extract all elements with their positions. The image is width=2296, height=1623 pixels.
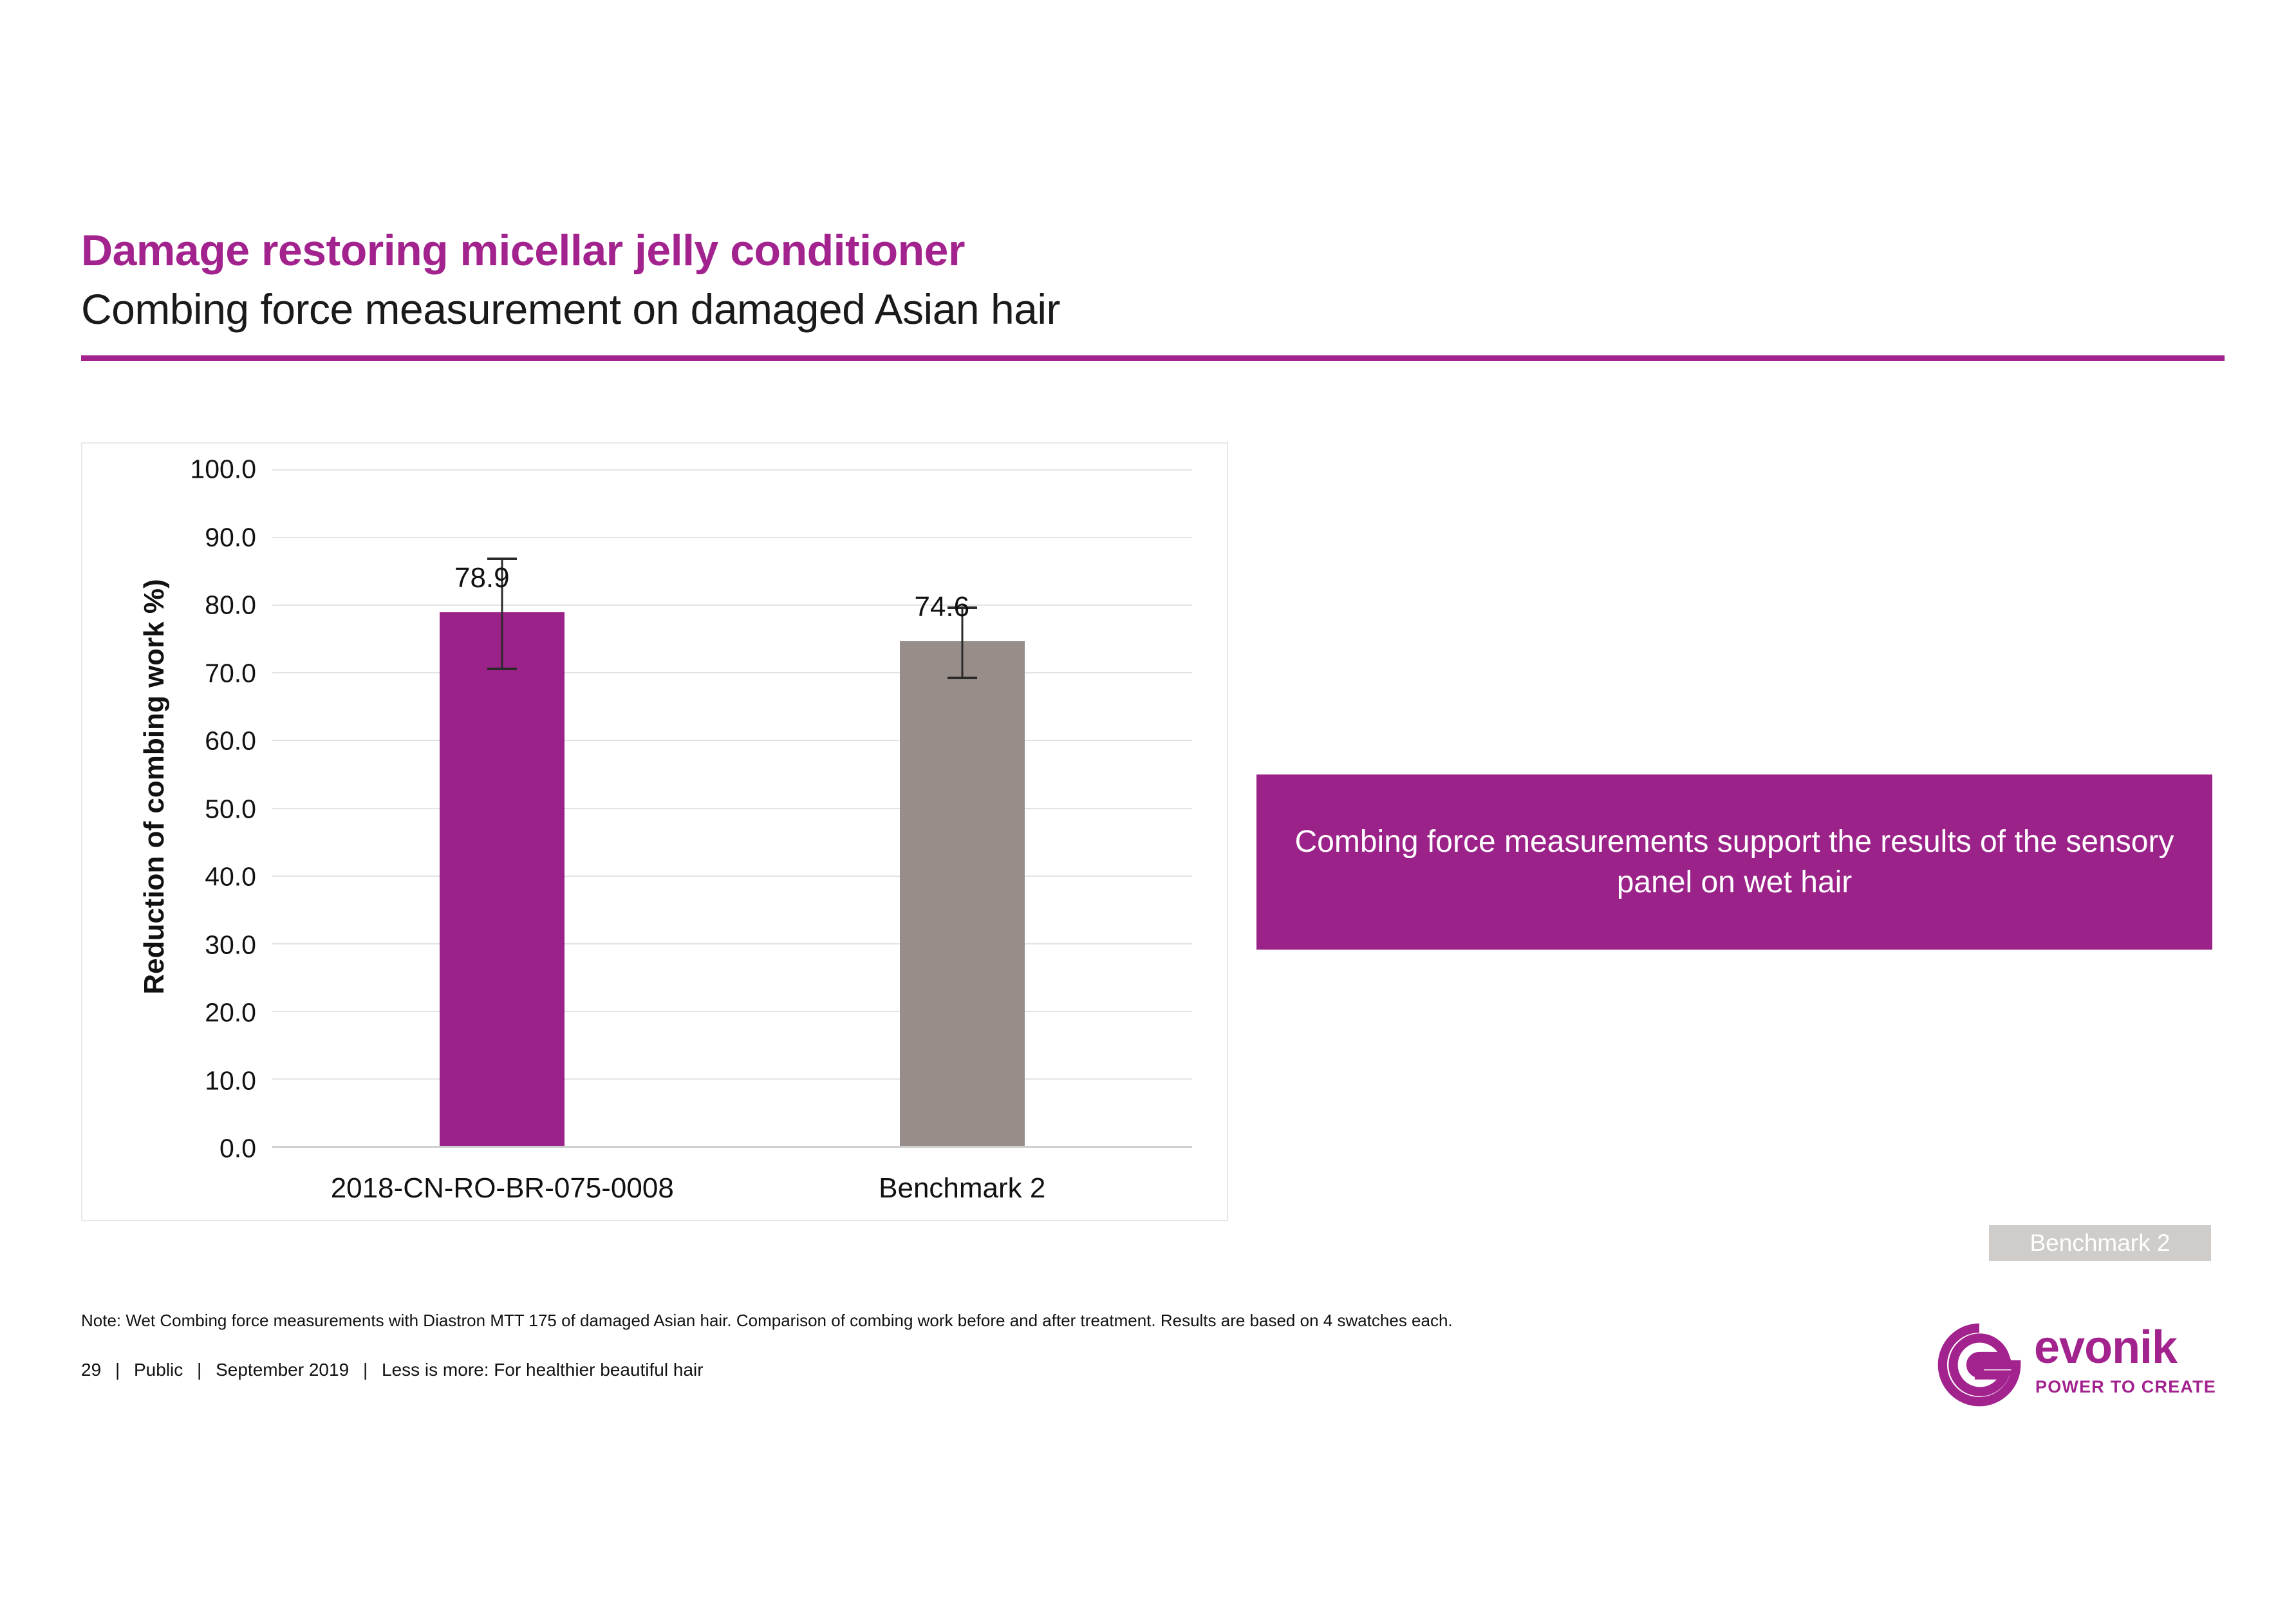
y-axis-tick: 90.0 bbox=[147, 522, 256, 552]
y-axis-tick: 40.0 bbox=[147, 862, 256, 892]
footer-page-number: 29 bbox=[81, 1360, 101, 1380]
bar-value-label: 78.9 bbox=[454, 562, 510, 594]
x-axis-tick-labels: 2018-CN-RO-BR-075-0008Benchmark 2 bbox=[272, 1146, 1192, 1220]
y-axis-tick: 0.0 bbox=[147, 1134, 256, 1164]
error-bar-cap-upper bbox=[487, 558, 517, 560]
bar bbox=[440, 612, 565, 1146]
gridline bbox=[272, 876, 1192, 877]
y-axis-tick: 60.0 bbox=[147, 726, 256, 756]
bar-value-label: 74.6 bbox=[914, 591, 969, 623]
footer-deck-title: Less is more: For healthier beautiful ha… bbox=[382, 1360, 704, 1380]
gridline bbox=[272, 537, 1192, 538]
evonik-circle-e-icon bbox=[1937, 1323, 2021, 1407]
y-axis-tick: 50.0 bbox=[147, 794, 256, 824]
y-axis-tick: 30.0 bbox=[147, 930, 256, 960]
footer-separator-1: | bbox=[106, 1360, 129, 1380]
footer-separator-2: | bbox=[188, 1360, 210, 1380]
gridline bbox=[272, 943, 1192, 944]
page-title: Damage restoring micellar jelly conditio… bbox=[81, 225, 965, 276]
footnote: Note: Wet Combing force measurements wit… bbox=[81, 1311, 1453, 1331]
gridline bbox=[272, 1078, 1192, 1080]
gridline bbox=[272, 1011, 1192, 1012]
plot-area: 78.974.6 bbox=[272, 469, 1192, 1146]
evonik-tagline: POWER TO CREATE bbox=[2035, 1378, 2216, 1396]
evonik-logo: evonik POWER TO CREATE bbox=[1937, 1323, 2234, 1420]
y-axis-tick: 20.0 bbox=[147, 998, 256, 1028]
benchmark-badge: Benchmark 2 bbox=[1989, 1225, 2211, 1261]
gridline bbox=[272, 469, 1192, 471]
bar bbox=[900, 641, 1025, 1146]
insight-callout-text: Combing force measurements support the r… bbox=[1256, 821, 2212, 903]
error-bar-cap-lower bbox=[487, 668, 517, 670]
footer-meta: 29 | Public | September 2019 | Less is m… bbox=[81, 1360, 704, 1380]
footer-classification: Public bbox=[134, 1360, 183, 1380]
y-axis-tick: 100.0 bbox=[147, 455, 256, 485]
y-axis-tick-labels: 100.090.080.070.060.050.040.030.020.010.… bbox=[140, 444, 256, 1220]
insight-callout: Combing force measurements support the r… bbox=[1256, 774, 2212, 950]
y-axis-tick: 10.0 bbox=[147, 1065, 256, 1096]
y-axis-tick: 70.0 bbox=[147, 658, 256, 688]
error-bar-cap-lower bbox=[947, 677, 977, 679]
gridline bbox=[272, 672, 1192, 673]
gridline bbox=[272, 740, 1192, 741]
y-axis-tick: 80.0 bbox=[147, 590, 256, 621]
gridline bbox=[272, 808, 1192, 809]
benchmark-badge-label: Benchmark 2 bbox=[2030, 1230, 2170, 1257]
x-axis-category-label: Benchmark 2 bbox=[879, 1172, 1045, 1205]
page-subtitle: Combing force measurement on damaged Asi… bbox=[81, 285, 1060, 333]
title-divider bbox=[81, 355, 2225, 361]
evonik-wordmark: evonik bbox=[2034, 1324, 2177, 1371]
bar-chart: Reduction of combing work %) 100.090.080… bbox=[81, 442, 1228, 1221]
footer-separator-3: | bbox=[354, 1360, 377, 1380]
gridline bbox=[272, 605, 1192, 606]
x-axis-category-label: 2018-CN-RO-BR-075-0008 bbox=[331, 1172, 674, 1205]
footer-date: September 2019 bbox=[216, 1360, 349, 1380]
